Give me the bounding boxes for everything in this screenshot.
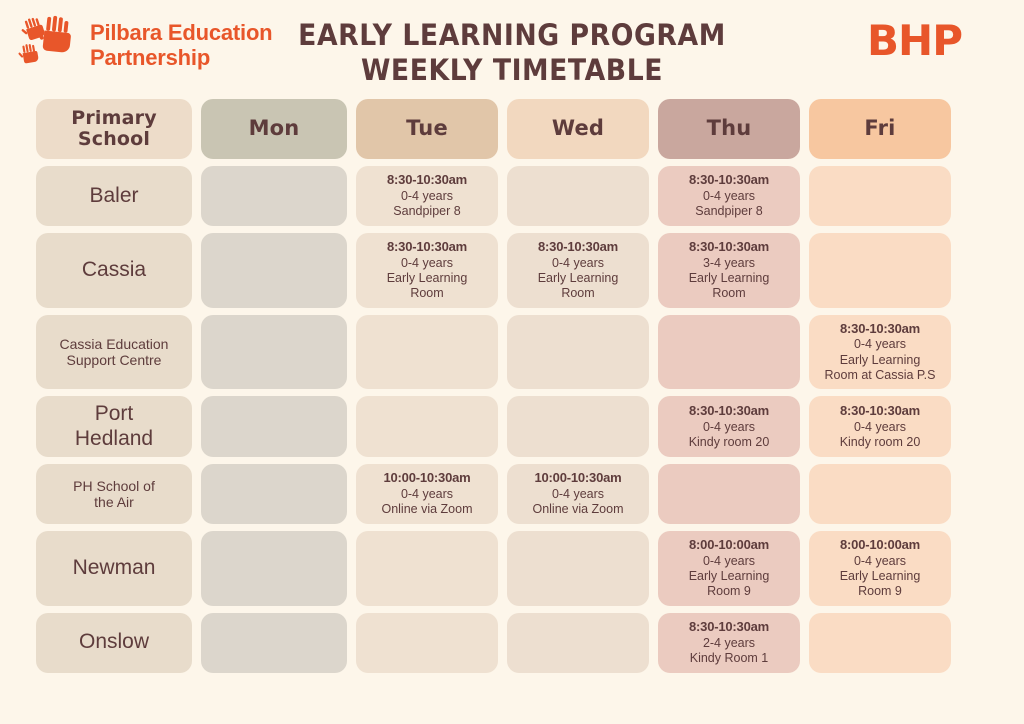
session-time: 8:30-10:30am xyxy=(689,619,769,635)
column-header-tue: Tue xyxy=(356,99,498,159)
session-ages: 0-4 years xyxy=(401,487,453,502)
empty-cell-tue-4 xyxy=(356,396,498,457)
session-cell-thu-4: 8:30-10:30am0-4 yearsKindy room 20 xyxy=(658,396,800,457)
column-header-fri: Fri xyxy=(809,99,951,159)
empty-cell-mon-2 xyxy=(201,233,347,308)
bhp-logo: BHP xyxy=(867,16,962,65)
session-ages: 0-4 years xyxy=(854,554,906,569)
session-time: 8:30-10:30am xyxy=(387,239,467,255)
session-time: 8:30-10:30am xyxy=(689,239,769,255)
session-cell-wed-5: 10:00-10:30am0-4 yearsOnline via Zoom xyxy=(507,464,649,524)
empty-cell-tue-6 xyxy=(356,531,498,606)
empty-cell-tue-3 xyxy=(356,315,498,390)
row-label-2: Cassia xyxy=(36,233,192,308)
page-title-line-1: Early Learning Program xyxy=(41,18,983,53)
empty-cell-fri-2 xyxy=(809,233,951,308)
column-header-wed: Wed xyxy=(507,99,649,159)
page-title-line-2: Weekly Timetable xyxy=(41,53,983,88)
session-ages: 0-4 years xyxy=(703,554,755,569)
session-location: Early Learning Room 9 xyxy=(840,569,921,600)
session-location: Sandpiper 8 xyxy=(695,204,762,219)
session-location: Early Learning Room at Cassia P.S xyxy=(825,353,936,384)
session-location: Early Learning Room xyxy=(538,271,619,302)
row-label-4: Port Hedland xyxy=(36,396,192,457)
empty-cell-mon-7 xyxy=(201,613,347,673)
session-ages: 3-4 years xyxy=(703,256,755,271)
session-ages: 0-4 years xyxy=(854,337,906,352)
empty-cell-wed-7 xyxy=(507,613,649,673)
empty-cell-mon-6 xyxy=(201,531,347,606)
empty-cell-thu-3 xyxy=(658,315,800,390)
column-header-mon: Mon xyxy=(201,99,347,159)
session-cell-tue-2: 8:30-10:30am0-4 yearsEarly Learning Room xyxy=(356,233,498,308)
page-header: Pilbara Education Partnership Early Lear… xyxy=(0,0,1024,96)
session-time: 8:30-10:30am xyxy=(840,403,920,419)
session-time: 8:30-10:30am xyxy=(689,403,769,419)
session-cell-thu-1: 8:30-10:30am0-4 yearsSandpiper 8 xyxy=(658,166,800,226)
session-location: Sandpiper 8 xyxy=(393,204,460,219)
session-ages: 0-4 years xyxy=(401,189,453,204)
session-location: Kindy room 20 xyxy=(689,435,770,450)
session-ages: 0-4 years xyxy=(703,420,755,435)
empty-cell-thu-5 xyxy=(658,464,800,524)
empty-cell-fri-7 xyxy=(809,613,951,673)
session-cell-fri-4: 8:30-10:30am0-4 yearsKindy room 20 xyxy=(809,396,951,457)
timetable-page: Pilbara Education Partnership Early Lear… xyxy=(0,0,1024,724)
session-cell-tue-5: 10:00-10:30am0-4 yearsOnline via Zoom xyxy=(356,464,498,524)
empty-cell-wed-3 xyxy=(507,315,649,390)
row-label-3: Cassia Education Support Centre xyxy=(36,315,192,390)
empty-cell-wed-1 xyxy=(507,166,649,226)
session-time: 10:00-10:30am xyxy=(534,470,621,486)
session-cell-thu-2: 8:30-10:30am3-4 yearsEarly Learning Room xyxy=(658,233,800,308)
empty-cell-mon-4 xyxy=(201,396,347,457)
empty-cell-fri-1 xyxy=(809,166,951,226)
session-time: 10:00-10:30am xyxy=(383,470,470,486)
session-location: Kindy Room 1 xyxy=(690,651,769,666)
session-cell-tue-1: 8:30-10:30am0-4 yearsSandpiper 8 xyxy=(356,166,498,226)
session-cell-thu-7: 8:30-10:30am2-4 yearsKindy Room 1 xyxy=(658,613,800,673)
session-location: Online via Zoom xyxy=(381,502,472,517)
column-header-thu: Thu xyxy=(658,99,800,159)
page-title: Early Learning Program Weekly Timetable xyxy=(41,18,983,89)
timetable-grid: Primary SchoolMonTueWedThuFriBaler8:30-1… xyxy=(36,99,988,673)
session-time: 8:00-10:00am xyxy=(840,537,920,553)
session-location: Early Learning Room xyxy=(689,271,770,302)
session-cell-fri-6: 8:00-10:00am0-4 yearsEarly Learning Room… xyxy=(809,531,951,606)
session-time: 8:30-10:30am xyxy=(387,172,467,188)
empty-cell-wed-4 xyxy=(507,396,649,457)
session-time: 8:00-10:00am xyxy=(689,537,769,553)
session-ages: 0-4 years xyxy=(703,189,755,204)
session-location: Early Learning Room xyxy=(387,271,468,302)
session-cell-fri-3: 8:30-10:30am0-4 yearsEarly Learning Room… xyxy=(809,315,951,390)
session-ages: 0-4 years xyxy=(552,256,604,271)
empty-cell-mon-5 xyxy=(201,464,347,524)
empty-cell-wed-6 xyxy=(507,531,649,606)
session-cell-wed-2: 8:30-10:30am0-4 yearsEarly Learning Room xyxy=(507,233,649,308)
empty-cell-mon-1 xyxy=(201,166,347,226)
session-ages: 2-4 years xyxy=(703,636,755,651)
empty-cell-tue-7 xyxy=(356,613,498,673)
session-ages: 0-4 years xyxy=(854,420,906,435)
empty-cell-mon-3 xyxy=(201,315,347,390)
session-cell-thu-6: 8:00-10:00am0-4 yearsEarly Learning Room… xyxy=(658,531,800,606)
row-label-1: Baler xyxy=(36,166,192,226)
session-location: Early Learning Room 9 xyxy=(689,569,770,600)
column-header-school: Primary School xyxy=(36,99,192,159)
session-time: 8:30-10:30am xyxy=(840,321,920,337)
session-time: 8:30-10:30am xyxy=(689,172,769,188)
empty-cell-fri-5 xyxy=(809,464,951,524)
session-location: Online via Zoom xyxy=(532,502,623,517)
session-ages: 0-4 years xyxy=(552,487,604,502)
session-location: Kindy room 20 xyxy=(840,435,921,450)
session-time: 8:30-10:30am xyxy=(538,239,618,255)
row-label-7: Onslow xyxy=(36,613,192,673)
row-label-6: Newman xyxy=(36,531,192,606)
row-label-5: PH School of the Air xyxy=(36,464,192,524)
session-ages: 0-4 years xyxy=(401,256,453,271)
